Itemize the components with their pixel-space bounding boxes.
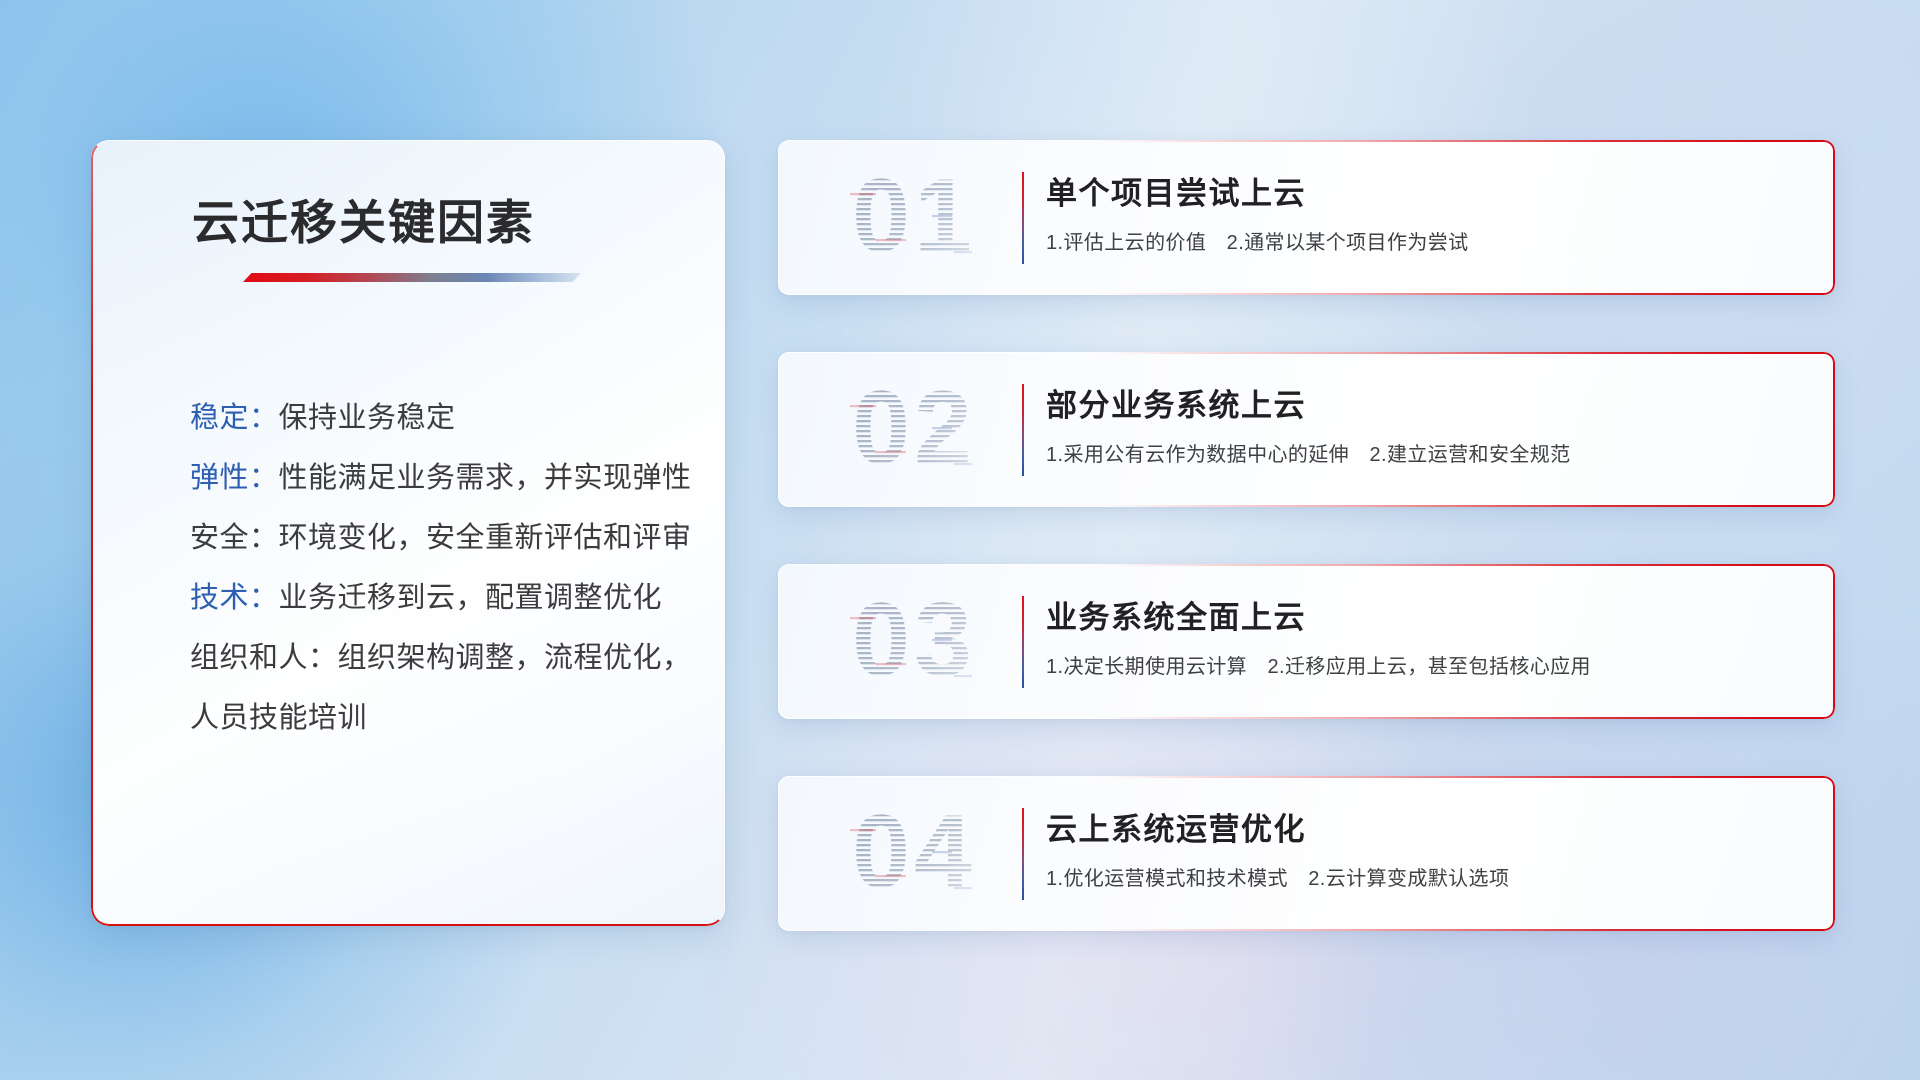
- factor-line-2: 弹性：性能满足业务需求，并实现弹性: [190, 454, 692, 496]
- factor-text: 保持业务稳定: [279, 402, 456, 434]
- step-card-03[interactable]: 03业务系统全面上云1.决定长期使用云计算 2.迁移应用上云，甚至包括核心应用: [778, 564, 1835, 719]
- step-number-04: 04: [814, 799, 1014, 909]
- step-subtitle: 1.采用公有云作为数据中心的延伸 2.建立运营和安全规范: [1046, 438, 1571, 467]
- step-title: 业务系统全面上云: [1046, 592, 1306, 637]
- factor-key: 弹性：: [190, 462, 279, 494]
- slide-stage: 云迁移关键因素 稳定：保持业务稳定弹性：性能满足业务需求，并实现弹性安全：环境变…: [0, 0, 1920, 1080]
- step-number-03: 03: [814, 587, 1014, 697]
- factor-line-5: 组织和人：组织架构调整，流程优化，: [190, 634, 692, 676]
- step-card-04[interactable]: 04云上系统运营优化1.优化运营模式和技术模式 2.云计算变成默认选项: [778, 776, 1835, 931]
- step-title: 云上系统运营优化: [1046, 804, 1306, 849]
- svg-text:01: 01: [852, 163, 976, 273]
- card-divider: [1022, 172, 1024, 264]
- step-subtitle: 1.评估上云的价值 2.通常以某个项目作为尝试: [1046, 226, 1469, 255]
- factor-line-6: 人员技能培训: [190, 694, 367, 736]
- step-card-01[interactable]: 01单个项目尝试上云1.评估上云的价值 2.通常以某个项目作为尝试: [778, 140, 1835, 295]
- factor-line-1: 稳定：保持业务稳定: [190, 394, 456, 436]
- card-divider: [1022, 596, 1024, 688]
- factor-key: 稳定：: [190, 402, 279, 434]
- title-underline-rule: [243, 273, 581, 282]
- step-title: 单个项目尝试上云: [1046, 168, 1306, 213]
- factor-line-4: 技术：业务迁移到云，配置调整优化: [190, 574, 662, 616]
- factor-key: 技术：: [190, 582, 279, 614]
- step-card-02[interactable]: 02部分业务系统上云1.采用公有云作为数据中心的延伸 2.建立运营和安全规范: [778, 352, 1835, 507]
- svg-text:02: 02: [852, 375, 976, 485]
- factor-text: 人员技能培训: [190, 702, 367, 734]
- card-divider: [1022, 808, 1024, 900]
- step-number-02: 02: [814, 375, 1014, 485]
- step-subtitle: 1.优化运营模式和技术模式 2.云计算变成默认选项: [1046, 862, 1509, 891]
- factor-text: 性能满足业务需求，并实现弹性: [279, 462, 692, 494]
- step-subtitle: 1.决定长期使用云计算 2.迁移应用上云，甚至包括核心应用: [1046, 650, 1591, 679]
- factor-text: 组织架构调整，流程优化，: [338, 642, 692, 674]
- svg-text:03: 03: [852, 587, 976, 697]
- factor-text: 业务迁移到云，配置调整优化: [279, 582, 663, 614]
- svg-text:04: 04: [852, 799, 976, 909]
- factor-text: 环境变化，安全重新评估和评审: [279, 522, 692, 554]
- card-divider: [1022, 384, 1024, 476]
- step-title: 部分业务系统上云: [1046, 380, 1306, 425]
- page-title: 云迁移关键因素: [192, 184, 535, 253]
- factor-key: 安全：: [190, 522, 279, 554]
- factor-line-3: 安全：环境变化，安全重新评估和评审: [190, 514, 692, 556]
- step-number-01: 01: [814, 163, 1014, 273]
- key-factors-panel: 云迁移关键因素 稳定：保持业务稳定弹性：性能满足业务需求，并实现弹性安全：环境变…: [91, 140, 725, 926]
- factor-key: 组织和人：: [190, 642, 338, 674]
